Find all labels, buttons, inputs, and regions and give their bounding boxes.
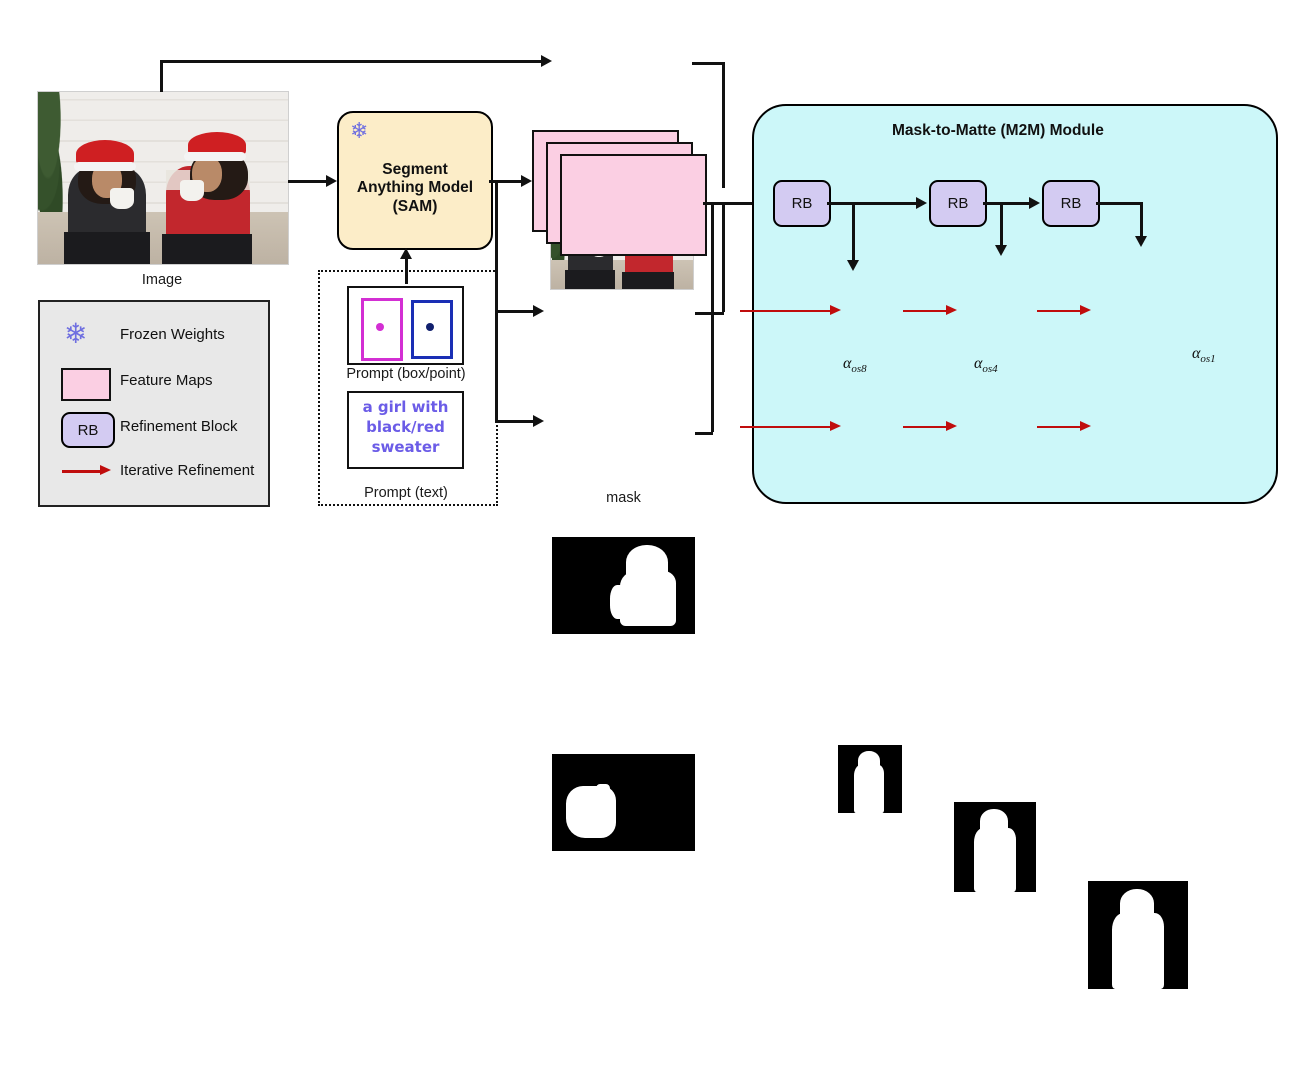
rb-label: RB <box>948 195 969 212</box>
iter-arrow-5-head <box>946 421 957 431</box>
sam-to-fmap-line <box>495 180 523 183</box>
iter-arrow-2-head <box>946 305 957 315</box>
rb-swatch: RB <box>61 412 115 448</box>
sam-to-mask1-line <box>495 310 535 313</box>
iter-arrow-3-head <box>1080 305 1091 315</box>
rb1-to-rb2-line <box>827 202 917 205</box>
mask-silhouette-body <box>1112 913 1164 989</box>
sam-line-2: Anything Model <box>357 179 473 197</box>
thumb-out-line <box>692 62 724 65</box>
rb-swatch-label: RB <box>78 422 99 439</box>
legend-item-feature-maps: Feature Maps <box>58 366 258 402</box>
sam-to-mask2-arrowhead <box>533 415 544 427</box>
rb-block-1[interactable]: RB <box>773 180 831 227</box>
prompt-to-sam-arrowhead <box>400 248 412 259</box>
legend-item-iterative-refinement: Iterative Refinement <box>58 460 258 490</box>
mask-image-2 <box>552 754 695 851</box>
rb3-branch-arrowhead <box>1135 236 1147 247</box>
sam-line-3: (SAM) <box>357 198 473 216</box>
legend-label-feature-maps: Feature Maps <box>120 372 213 389</box>
alpha-os4-mask <box>954 802 1036 892</box>
legend-label-frozen-weights: Frozen Weights <box>120 326 225 343</box>
bypass-line-horizontal <box>160 60 545 63</box>
iter-arrow-1-line <box>740 310 832 312</box>
mask-image-1 <box>552 537 695 634</box>
mask2-out-line <box>695 432 713 435</box>
mask-silhouette-body <box>854 765 884 813</box>
rb-block-3[interactable]: RB <box>1042 180 1100 227</box>
feature-map-swatch <box>61 368 111 401</box>
person-left <box>60 136 152 264</box>
rb-label: RB <box>1061 195 1082 212</box>
alpha-os1-mask <box>1088 881 1188 989</box>
alpha-os8-mask <box>838 745 902 813</box>
rb3-branch-v <box>1140 202 1143 238</box>
mask1-out-line <box>695 312 724 315</box>
mask-silhouette-body <box>974 828 1016 892</box>
legend-item-frozen-weights: ❄ Frozen Weights <box>58 320 258 356</box>
input-image-label: Image <box>37 272 287 288</box>
iter-arrow-4-line <box>740 426 832 428</box>
legend-label-iterative-refinement: Iterative Refinement <box>120 462 254 479</box>
mask-caption: mask <box>552 490 695 506</box>
prompt-point-blue <box>426 323 434 331</box>
iter-arrow-6-line <box>1037 426 1082 428</box>
snowflake-icon: ❄ <box>64 320 87 348</box>
sam-block[interactable]: ❄ Segment Anything Model (SAM) <box>337 111 493 250</box>
rb1-branch-h <box>852 202 855 262</box>
mask2-up-line <box>711 202 714 432</box>
snowflake-icon: ❄ <box>350 120 368 142</box>
alpha-os8-label: αos8 <box>843 355 867 375</box>
rb3-branch-h <box>1096 202 1142 205</box>
rb2-branch-h <box>1000 202 1003 247</box>
iter-arrow-6-head <box>1080 421 1091 431</box>
prompt-point-magenta <box>376 323 384 331</box>
alpha-os4-label: αos4 <box>974 355 998 375</box>
m2m-title: Mask-to-Matte (M2M) Module <box>892 122 1104 140</box>
iter-arrow-5-line <box>903 426 948 428</box>
sam-out-trunk <box>495 180 498 420</box>
rb1-branch-arrowhead <box>847 260 859 271</box>
bypass-arrowhead <box>541 55 552 67</box>
person-right <box>160 130 260 264</box>
feature-map-front <box>560 154 707 256</box>
prompt-box-point[interactable] <box>347 286 464 365</box>
prompt-text-caption: Prompt (text) <box>318 485 494 501</box>
image-to-sam-line <box>288 180 328 183</box>
prompt-text-line-1: a girl with <box>349 398 462 418</box>
mask-silhouette-body <box>620 571 676 626</box>
iter-arrow-4-head <box>830 421 841 431</box>
legend-item-refinement-block: RB Refinement Block <box>58 412 258 448</box>
sam-to-mask1-arrowhead <box>533 305 544 317</box>
prompt-text-line-3: sweater <box>349 438 462 458</box>
prompt-text-line-2: black/red <box>349 418 462 438</box>
rb2-branch-arrowhead <box>995 245 1007 256</box>
mask1-up-line <box>722 202 725 312</box>
thumb-down-line <box>722 62 725 188</box>
rb2-to-rb3-arrowhead <box>1029 197 1040 209</box>
bypass-line-vertical <box>160 60 163 92</box>
iter-arrow-3-line <box>1037 310 1082 312</box>
image-to-sam-arrowhead <box>326 175 337 187</box>
red-arrow-icon-head <box>100 465 111 475</box>
sam-to-mask2-line <box>495 420 535 423</box>
rb1-to-rb2-arrowhead <box>916 197 927 209</box>
legend-label-refinement-block: Refinement Block <box>120 418 238 435</box>
rb-label: RB <box>792 195 813 212</box>
mask-silhouette-part <box>596 784 610 798</box>
iter-arrow-2-line <box>903 310 948 312</box>
iter-arrow-1-head <box>830 305 841 315</box>
prompt-text-box[interactable]: a girl with black/red sweater <box>347 391 464 469</box>
rb2-to-rb3-line <box>983 202 1030 205</box>
alpha-os1-label: αos1 <box>1192 345 1216 365</box>
mask-silhouette-arm <box>610 585 628 619</box>
sam-line-1: Segment <box>357 161 473 179</box>
m2m-module <box>752 104 1278 504</box>
sam-to-fmap-arrowhead <box>521 175 532 187</box>
rb-block-2[interactable]: RB <box>929 180 987 227</box>
input-image <box>37 91 289 265</box>
prompt-box-point-caption: Prompt (box/point) <box>318 366 494 382</box>
red-arrow-icon <box>62 470 102 473</box>
